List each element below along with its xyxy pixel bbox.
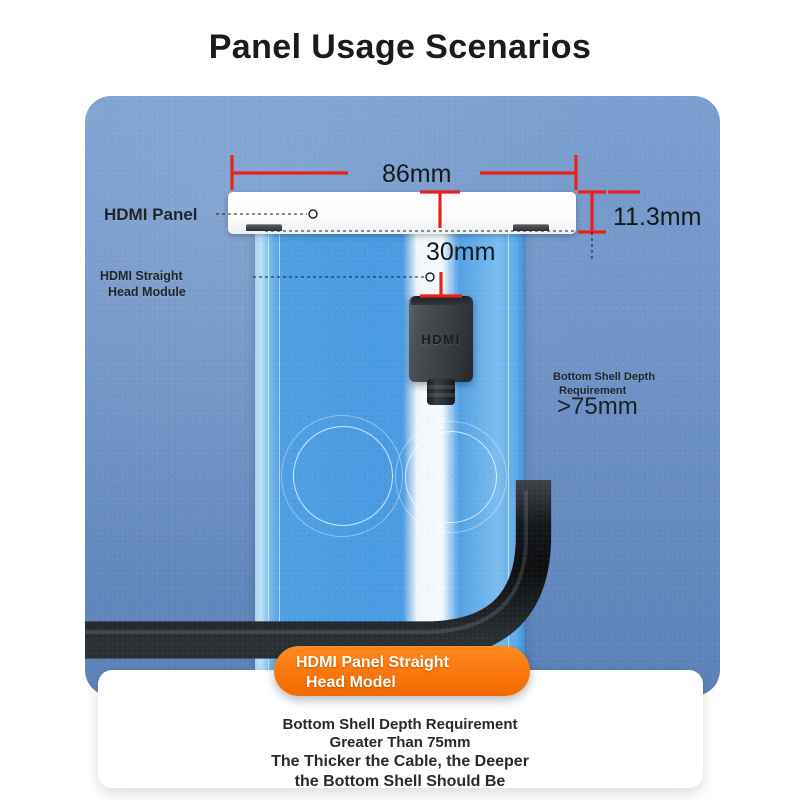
- page-title: Panel Usage Scenarios: [0, 28, 800, 67]
- annotation-depth-line-1: Bottom Shell Depth: [553, 370, 655, 384]
- annotation-module-line-2: Head Module: [100, 285, 186, 301]
- device-edge-line-left: [268, 231, 269, 681]
- annotation-hdmi-panel: HDMI Panel: [104, 205, 198, 225]
- annotation-depth-value: >75mm: [557, 393, 638, 421]
- connector-strain-relief: [427, 379, 455, 405]
- annotation-module-line-1: HDMI Straight: [100, 269, 186, 285]
- connector-hdmi-label: HDMI: [409, 332, 473, 347]
- caption-line-3: The Thicker the Cable, the Deeper: [0, 752, 800, 772]
- connector-cap: [411, 296, 471, 305]
- panel-tab-left: [246, 224, 282, 231]
- caption-line-1: Bottom Shell Depth Requirement: [0, 716, 800, 734]
- strain-ring-2: [427, 393, 455, 397]
- dimension-label-height: 11.3mm: [613, 203, 701, 232]
- strain-ring-1: [427, 385, 455, 389]
- model-badge: HDMI Panel Straight Head Model: [274, 646, 530, 696]
- dimension-label-width: 86mm: [382, 160, 451, 189]
- device-edge-line-right: [508, 231, 509, 681]
- device-edge-line-left-2: [279, 231, 280, 681]
- device-body: [255, 231, 525, 681]
- annotation-straight-head-module: HDMI Straight Head Module: [100, 269, 186, 300]
- decor-circle-left-outer: [281, 415, 403, 537]
- caption-block-2: The Thicker the Cable, the Deeper the Bo…: [0, 752, 800, 791]
- caption-line-2: Greater Than 75mm: [0, 734, 800, 752]
- hdmi-panel-bar: [228, 192, 576, 234]
- dimension-label-depth: 30mm: [426, 238, 495, 267]
- model-badge-line-2: Head Model: [296, 673, 530, 693]
- caption-block-1: Bottom Shell Depth Requirement Greater T…: [0, 716, 800, 753]
- panel-tab-right: [513, 224, 549, 231]
- model-badge-line-1: HDMI Panel Straight: [296, 653, 530, 673]
- caption-line-4: the Bottom Shell Should Be: [0, 772, 800, 792]
- decor-circle-right-outer: [395, 421, 507, 533]
- hdmi-connector: HDMI: [409, 296, 473, 382]
